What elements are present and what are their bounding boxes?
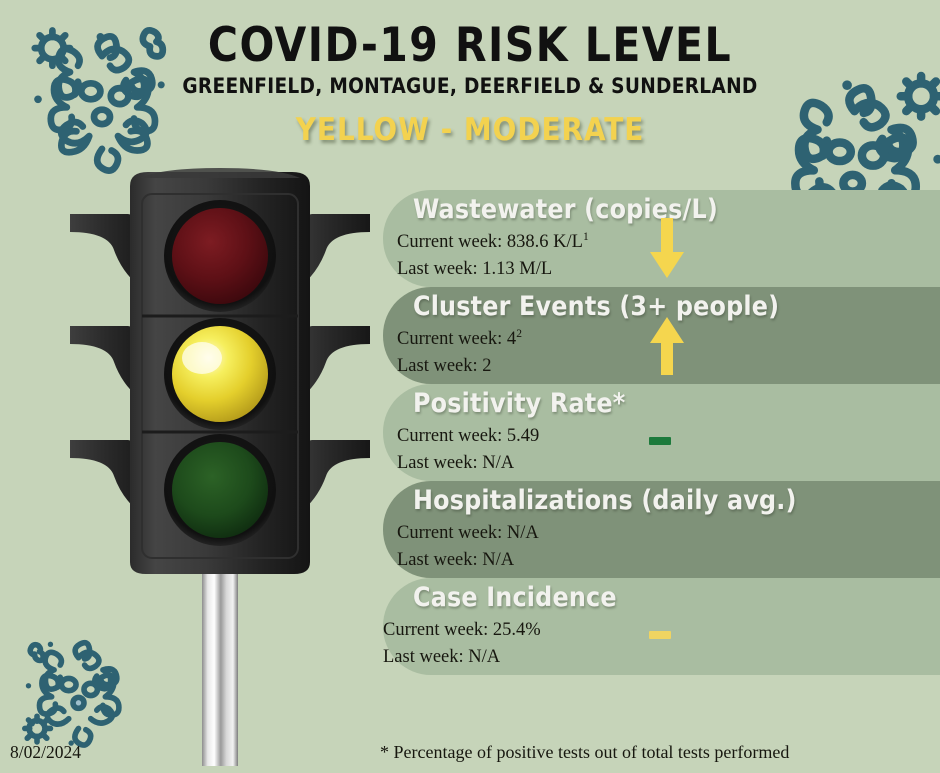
trend-flat-dash-icon	[645, 434, 689, 448]
metric-current-week: Current week: 838.6 K/L1	[397, 231, 589, 253]
metric-last-week: Last week: N/A	[383, 647, 500, 668]
header: COVID-19 RISK LEVEL GREENFIELD, MONTAGUE…	[0, 0, 940, 146]
trend-arrow-down-icon	[645, 218, 689, 280]
metric-panel-case-incidence: Case Incidence Current week: 25.4% Last …	[383, 578, 940, 675]
metrics-list: Wastewater (copies/L) Current week: 838.…	[0, 190, 940, 675]
metric-current-text: Current week: 838.6 K/L	[397, 232, 583, 252]
metric-title: Cluster Events (3+ people)	[413, 291, 779, 322]
metric-last-week: Last week: N/A	[397, 550, 514, 571]
metric-title: Hospitalizations (daily avg.)	[413, 485, 797, 516]
metric-last-week: Last week: 1.13 M/L	[397, 259, 552, 280]
date-stamp: 8/02/2024	[10, 742, 81, 763]
metric-title: Positivity Rate*	[413, 388, 625, 419]
trend-flat-dash-icon	[645, 628, 689, 642]
metric-current-week: Current week: 5.49	[397, 425, 539, 447]
metric-panel-cluster-events: Cluster Events (3+ people) Current week:…	[383, 287, 940, 384]
trend-arrow-up-icon	[645, 315, 689, 377]
metric-current-week: Current week: 25.4%	[383, 619, 541, 641]
page-subtitle: GREENFIELD, MONTAGUE, DEERFIELD & SUNDER…	[19, 69, 921, 98]
footnote-text: * Percentage of positive tests out of to…	[380, 742, 789, 763]
metric-current-text: Current week: 25.4%	[383, 620, 541, 640]
metric-current-text: Current week: N/A	[397, 523, 539, 543]
metric-panel-positivity-rate: Positivity Rate* Current week: 5.49 Last…	[383, 384, 940, 481]
metric-current-week: Current week: 42	[397, 328, 522, 350]
metric-last-week: Last week: N/A	[397, 453, 514, 474]
risk-level-banner: YELLOW - MODERATE	[0, 98, 940, 146]
infographic-canvas: COVID-19 RISK LEVEL GREENFIELD, MONTAGUE…	[0, 0, 940, 768]
page-title: COVID-19 RISK LEVEL	[14, 0, 926, 69]
metric-footnote-marker: 2	[516, 328, 522, 340]
metric-footnote-marker: 1	[583, 231, 589, 243]
metric-title: Case Incidence	[413, 582, 617, 613]
metric-current-text: Current week: 4	[397, 329, 516, 349]
metric-current-text: Current week: 5.49	[397, 426, 539, 446]
metric-panel-hospitalizations: Hospitalizations (daily avg.) Current we…	[383, 481, 940, 578]
metric-panel-wastewater: Wastewater (copies/L) Current week: 838.…	[383, 190, 940, 287]
metric-current-week: Current week: N/A	[397, 522, 539, 544]
metric-last-week: Last week: 2	[397, 356, 492, 377]
